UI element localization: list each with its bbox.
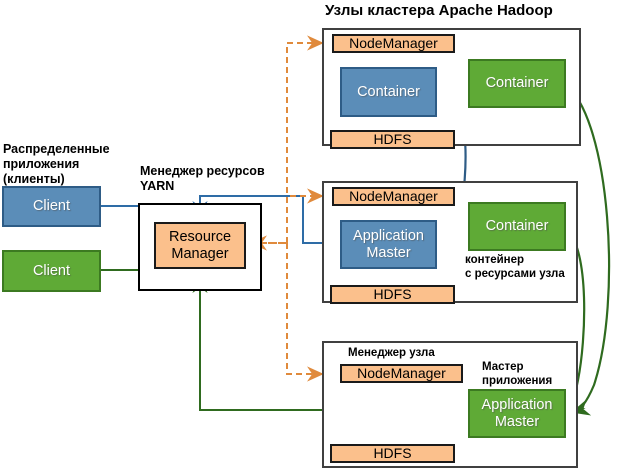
client-box-2[interactable]: Client — [2, 250, 101, 292]
yarn-group-label: Менеджер ресурсов YARN — [140, 164, 300, 194]
resource-manager-box[interactable]: Resource Manager — [154, 222, 246, 269]
clients-group-label: Распределенные приложения (клиенты) — [3, 142, 143, 186]
node-3-nodemanager-label: NodeManager — [357, 366, 446, 382]
node-3-application-master-caption: Мастер приложения — [482, 361, 592, 388]
node-3-hdfs-label: HDFS — [373, 446, 411, 462]
node-1-hdfs-box[interactable]: HDFS — [330, 130, 455, 149]
node-3-application-master-label: Application Master — [482, 397, 553, 429]
node-1-container-green[interactable]: Container — [468, 59, 566, 108]
resource-manager-label: Resource Manager — [169, 229, 231, 261]
client-box-2-label: Client — [33, 263, 70, 279]
node-1-hdfs-label: HDFS — [373, 132, 411, 148]
node-2-hdfs-label: HDFS — [373, 287, 411, 303]
node-1-container-green-label: Container — [486, 75, 549, 91]
node-2-nodemanager-box[interactable]: NodeManager — [332, 187, 455, 206]
node-1-nodemanager-box[interactable]: NodeManager — [332, 34, 455, 53]
node-3-nodemanager-box[interactable]: NodeManager — [340, 364, 463, 383]
node-2-container-green-label: Container — [486, 218, 549, 234]
node-1-nodemanager-label: NodeManager — [349, 36, 438, 52]
cluster-title: Узлы кластера Apache Hadoop — [325, 2, 595, 20]
node-1-container-blue-label: Container — [357, 84, 420, 100]
node-3-nodemanager-caption: Менеджер узла — [348, 347, 488, 361]
diagram-canvas: Распределенные приложения (клиенты) Clie… — [0, 0, 627, 470]
node-1-container-blue[interactable]: Container — [340, 67, 437, 117]
client-box-1-label: Client — [33, 198, 70, 214]
node-2-nodemanager-label: NodeManager — [349, 189, 438, 205]
node-3-hdfs-box[interactable]: HDFS — [330, 444, 455, 463]
node-2-hdfs-box[interactable]: HDFS — [330, 285, 455, 304]
client-box-1[interactable]: Client — [2, 186, 101, 227]
node-3-application-master[interactable]: Application Master — [468, 389, 566, 438]
node-2-container-green[interactable]: Container — [468, 202, 566, 251]
node-2-container-caption: контейнер с ресурсами узла — [465, 254, 585, 281]
node-2-application-master-label: Application Master — [353, 228, 424, 260]
node-2-application-master[interactable]: Application Master — [340, 220, 437, 269]
